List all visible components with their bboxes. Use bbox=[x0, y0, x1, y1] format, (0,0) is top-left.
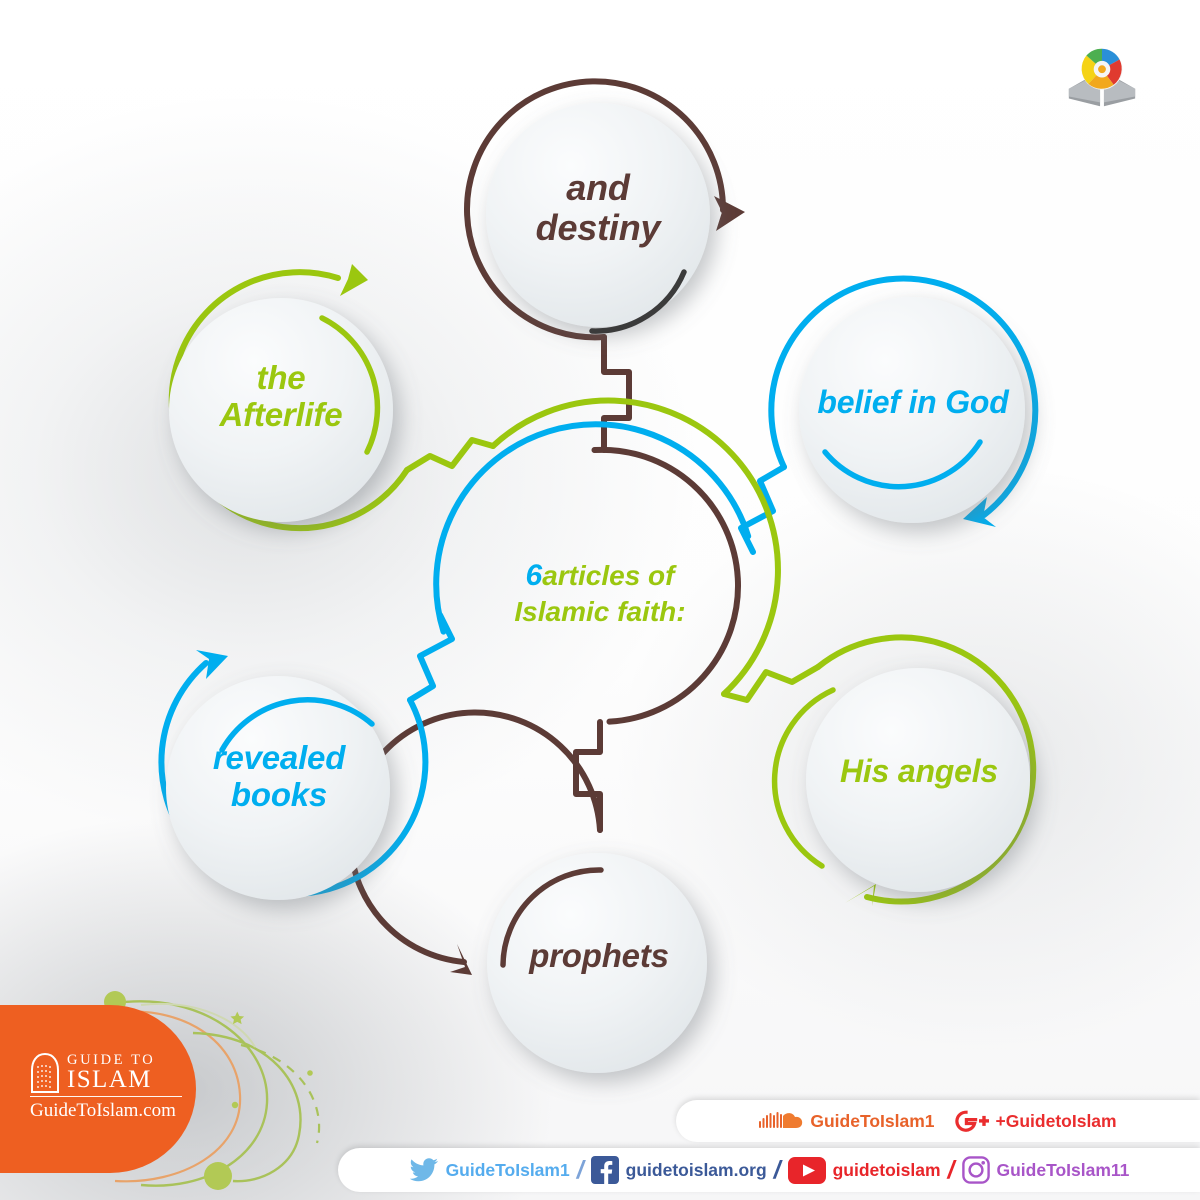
social-soundcloud[interactable]: GuideToIslam1 bbox=[759, 1110, 934, 1132]
separator-1: / bbox=[577, 1156, 584, 1185]
center-title: 6articles of Islamic faith: bbox=[470, 558, 730, 629]
brand-logo-row: GUIDE TO ISLAM bbox=[30, 1053, 180, 1093]
separator-2: / bbox=[774, 1156, 781, 1185]
circle-his-angels bbox=[806, 668, 1030, 892]
center-number: 6 bbox=[526, 559, 543, 592]
circle-revealed-books bbox=[166, 676, 390, 900]
guide-to-islam-logo bbox=[1063, 38, 1141, 116]
social-instagram-label: GuideToIslam11 bbox=[997, 1160, 1130, 1181]
social-facebook-label: guidetoislam.org bbox=[626, 1160, 767, 1181]
social-soundcloud-label: GuideToIslam1 bbox=[810, 1111, 934, 1132]
social-twitter-label: GuideToIslam1 bbox=[446, 1160, 570, 1181]
social-twitter[interactable]: GuideToIslam1 bbox=[409, 1157, 570, 1183]
circle-belief-in-god bbox=[799, 297, 1025, 523]
social-google-plus-label: +GuidetoIslam bbox=[996, 1111, 1117, 1132]
connector-top-left bbox=[407, 440, 493, 470]
facebook-icon bbox=[591, 1156, 619, 1184]
google-plus-icon bbox=[955, 1109, 989, 1133]
social-youtube-label: guidetoislam bbox=[833, 1160, 941, 1181]
social-google-plus[interactable]: +GuidetoIslam bbox=[955, 1109, 1117, 1133]
brand-wordmark: GUIDE TO ISLAM bbox=[67, 1054, 155, 1092]
soundcloud-icon bbox=[759, 1110, 803, 1132]
infographic-canvas: and destiny belief in God His angels pro… bbox=[0, 0, 1200, 1200]
social-facebook[interactable]: guidetoislam.org bbox=[591, 1156, 767, 1184]
brand-line-islam: ISLAM bbox=[67, 1068, 155, 1092]
brand-website-url[interactable]: GuideToIslam.com bbox=[30, 1096, 182, 1122]
twitter-icon bbox=[409, 1157, 439, 1183]
instagram-icon bbox=[962, 1156, 990, 1184]
circle-and-destiny bbox=[486, 103, 710, 327]
brand-badge-content: GUIDE TO ISLAM GuideToIslam.com bbox=[30, 1053, 180, 1122]
brand-badge[interactable]: GUIDE TO ISLAM GuideToIslam.com bbox=[0, 1005, 196, 1173]
footer-bar-lower: GuideToIslam1 / guidetoislam.org / guide… bbox=[338, 1148, 1200, 1192]
social-instagram[interactable]: GuideToIslam11 bbox=[962, 1156, 1130, 1184]
circle-prophets bbox=[487, 853, 707, 1073]
social-youtube[interactable]: guidetoislam bbox=[788, 1157, 941, 1184]
separator-3: / bbox=[948, 1156, 955, 1185]
mosque-arch-icon bbox=[30, 1053, 60, 1093]
circle-the-afterlife bbox=[169, 298, 393, 522]
footer-bar-upper: GuideToIslam1 +GuidetoIslam bbox=[676, 1100, 1200, 1142]
connector-top bbox=[604, 337, 629, 450]
youtube-icon bbox=[788, 1157, 826, 1184]
connector-bottom-left bbox=[410, 615, 452, 700]
